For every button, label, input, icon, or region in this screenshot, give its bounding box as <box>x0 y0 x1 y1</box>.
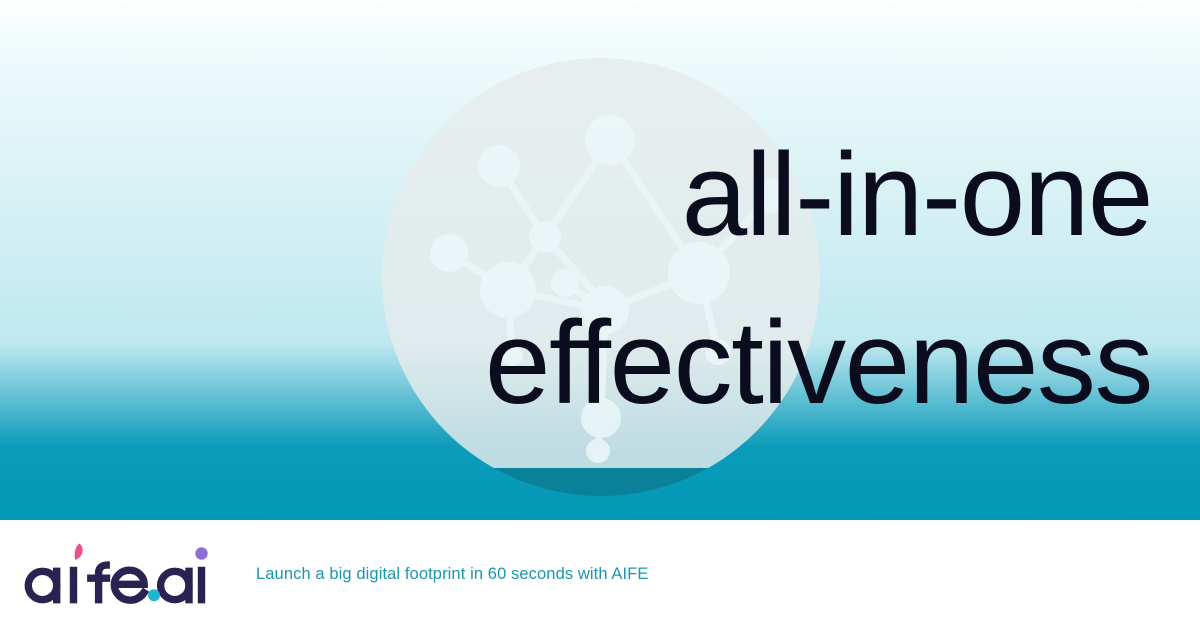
purple-dot-icon <box>195 547 207 559</box>
footer-tagline: Launch a big digital footprint in 60 sec… <box>256 565 648 584</box>
teardrop-accent-icon <box>75 544 83 560</box>
footer-bar: Launch a big digital footprint in 60 sec… <box>0 520 1200 628</box>
banner-root: all-in-one effectiveness <box>0 0 1200 628</box>
headline-line-2: effectiveness <box>52 280 1152 448</box>
hero-section: all-in-one effectiveness <box>0 0 1200 520</box>
cyan-dot-icon <box>148 589 160 601</box>
aife-ai-logo[interactable] <box>24 541 220 607</box>
headline-line-1: all-in-one <box>52 112 1152 280</box>
aife-ai-wordmark <box>28 565 201 600</box>
page-title: all-in-one effectiveness <box>52 112 1152 447</box>
